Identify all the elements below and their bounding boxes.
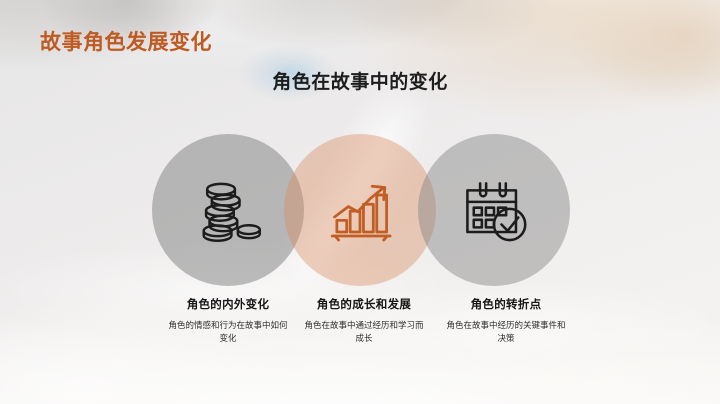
caption-title: 角色的内外变化 <box>158 296 298 312</box>
caption-title: 角色的转折点 <box>436 296 576 312</box>
caption-growth-development: 角色的成长和发展 角色在故事中通过经历和学习而成长 <box>294 296 434 345</box>
caption-title: 角色的成长和发展 <box>294 296 434 312</box>
coin-stack-icon <box>191 173 265 247</box>
growth-bar-chart-arrow-icon <box>323 173 397 247</box>
presentation-slide: 故事角色发展变化 角色在故事中的变化 <box>0 0 720 404</box>
caption-row: 角色的内外变化 角色的情感和行为在故事中如何变化 角色的成长和发展 角色在故事中… <box>0 296 720 345</box>
slide-title: 角色在故事中的变化 <box>0 67 720 94</box>
icon-circles-row <box>0 134 720 286</box>
slide-kicker-heading: 故事角色发展变化 <box>40 26 212 56</box>
circle-growth-development[interactable] <box>284 134 436 286</box>
caption-description: 角色的情感和行为在故事中如何变化 <box>158 319 298 345</box>
caption-description: 角色在故事中通过经历和学习而成长 <box>294 319 434 345</box>
calendar-check-icon <box>457 173 531 247</box>
circle-inner-outer-change[interactable] <box>152 134 304 286</box>
circle-turning-point[interactable] <box>418 134 570 286</box>
caption-turning-point: 角色的转折点 角色在故事中经历的关键事件和决策 <box>436 296 576 345</box>
caption-inner-outer-change: 角色的内外变化 角色的情感和行为在故事中如何变化 <box>158 296 298 345</box>
caption-description: 角色在故事中经历的关键事件和决策 <box>436 319 576 345</box>
